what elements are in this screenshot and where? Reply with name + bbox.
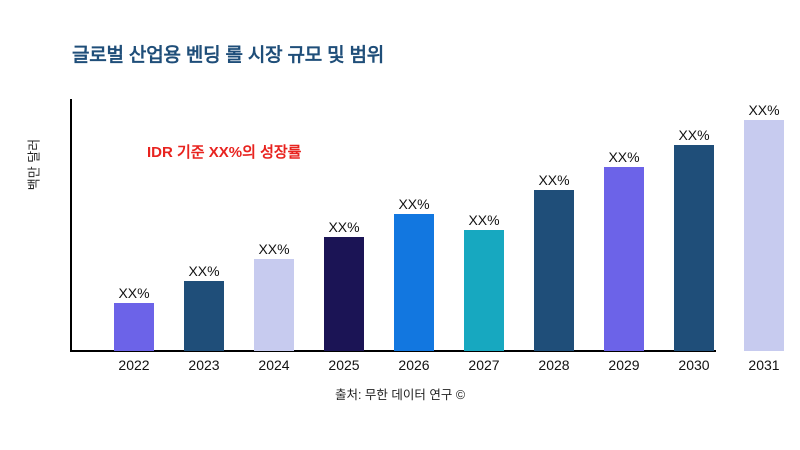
x-tick-2022: 2022 (100, 357, 168, 373)
x-tick-2030: 2030 (660, 357, 728, 373)
bar-2030[interactable] (674, 145, 714, 351)
bar-2026[interactable] (394, 214, 434, 351)
bar-slot-2028: XX% (520, 99, 588, 351)
bar-value-label: XX% (380, 196, 448, 212)
bar-value-label: XX% (310, 219, 378, 235)
x-tick-2027: 2027 (450, 357, 518, 373)
x-tick-2026: 2026 (380, 357, 448, 373)
bar-slot-2026: XX% (380, 99, 448, 351)
bar-slot-2031: XX% (730, 99, 798, 351)
bar-2024[interactable] (254, 259, 294, 351)
bar-2031[interactable] (744, 120, 784, 351)
bar-2028[interactable] (534, 190, 574, 351)
bar-2022[interactable] (114, 303, 154, 351)
x-tick-2029: 2029 (590, 357, 658, 373)
bar-value-label: XX% (240, 241, 308, 257)
plot-area: XX% XX% XX% XX% XX% XX% XX% XX% (70, 99, 800, 351)
chart-container: 글로벌 산업용 벤딩 롤 시장 규모 및 범위 백만 달러 IDR 기준 XX%… (0, 0, 800, 450)
bar-2027[interactable] (464, 230, 504, 351)
x-tick-2025: 2025 (310, 357, 378, 373)
x-tick-2031: 2031 (730, 357, 798, 373)
bar-2029[interactable] (604, 167, 644, 351)
bar-slot-2022: XX% (100, 99, 168, 351)
y-axis-label: 백만 달러 (24, 110, 43, 220)
bar-2025[interactable] (324, 237, 364, 351)
bar-value-label: XX% (170, 263, 238, 279)
bar-value-label: XX% (450, 212, 518, 228)
page-title: 글로벌 산업용 벤딩 롤 시장 규모 및 범위 (72, 40, 384, 67)
bar-value-label: XX% (590, 149, 658, 165)
x-tick-2024: 2024 (240, 357, 308, 373)
bar-slot-2029: XX% (590, 99, 658, 351)
x-tick-2028: 2028 (520, 357, 588, 373)
bar-value-label: XX% (520, 172, 588, 188)
bar-2023[interactable] (184, 281, 224, 351)
source-caption: 출처: 무한 데이터 연구 © (0, 384, 800, 403)
bar-slot-2024: XX% (240, 99, 308, 351)
bar-value-label: XX% (660, 127, 728, 143)
bar-slot-2025: XX% (310, 99, 378, 351)
bar-slot-2030: XX% (660, 99, 728, 351)
bar-slot-2023: XX% (170, 99, 238, 351)
bar-slot-2027: XX% (450, 99, 518, 351)
bar-value-label: XX% (100, 285, 168, 301)
bar-value-label: XX% (730, 102, 798, 118)
x-tick-2023: 2023 (170, 357, 238, 373)
